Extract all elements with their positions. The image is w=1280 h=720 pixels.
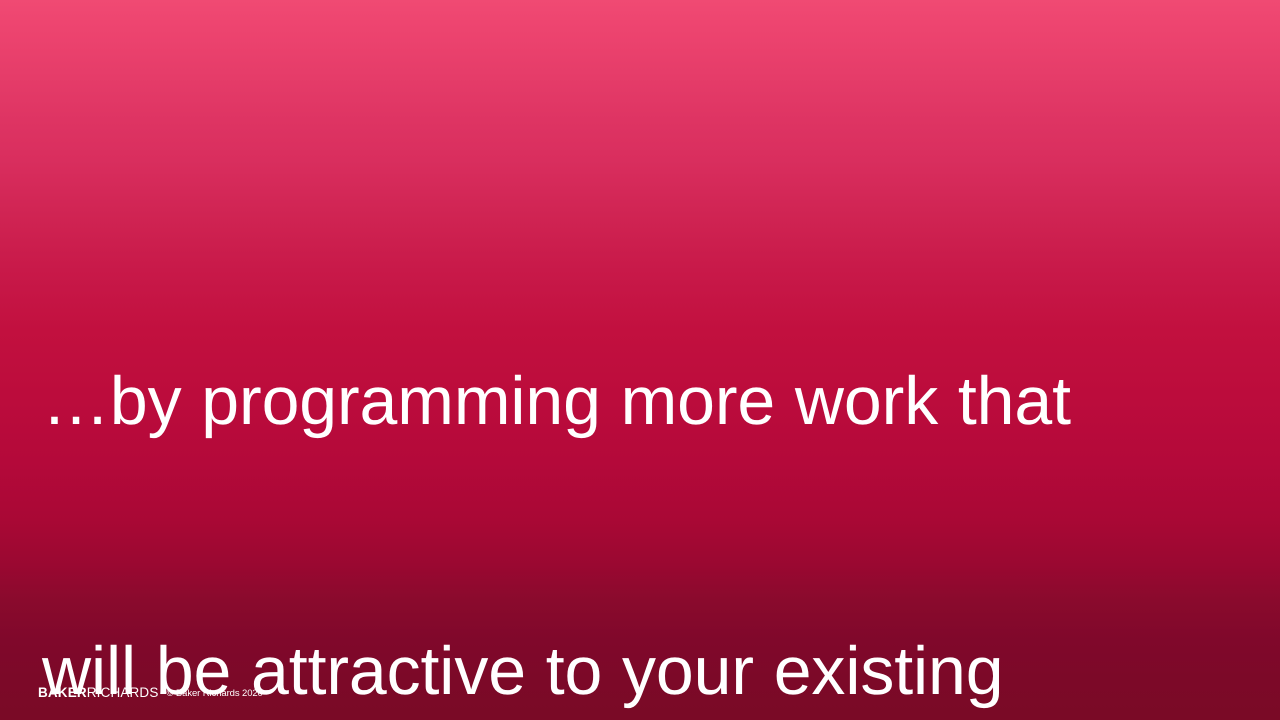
headline-line-2: will be attractive to your existing: [42, 626, 1256, 716]
slide-footer: BAKERRICHARDS © Baker Richards 2020: [38, 686, 263, 700]
logo-word-richards: RICHARDS: [87, 685, 159, 700]
logo-word-baker: BAKER: [38, 685, 87, 700]
headline-text-block: …by programming more work that will be a…: [42, 176, 1256, 720]
copyright-notice: © Baker Richards 2020: [166, 689, 262, 699]
presentation-slide: …by programming more work that will be a…: [0, 0, 1280, 720]
baker-richards-logo: BAKERRICHARDS: [38, 686, 158, 700]
headline-line-1: …by programming more work that: [42, 356, 1256, 446]
